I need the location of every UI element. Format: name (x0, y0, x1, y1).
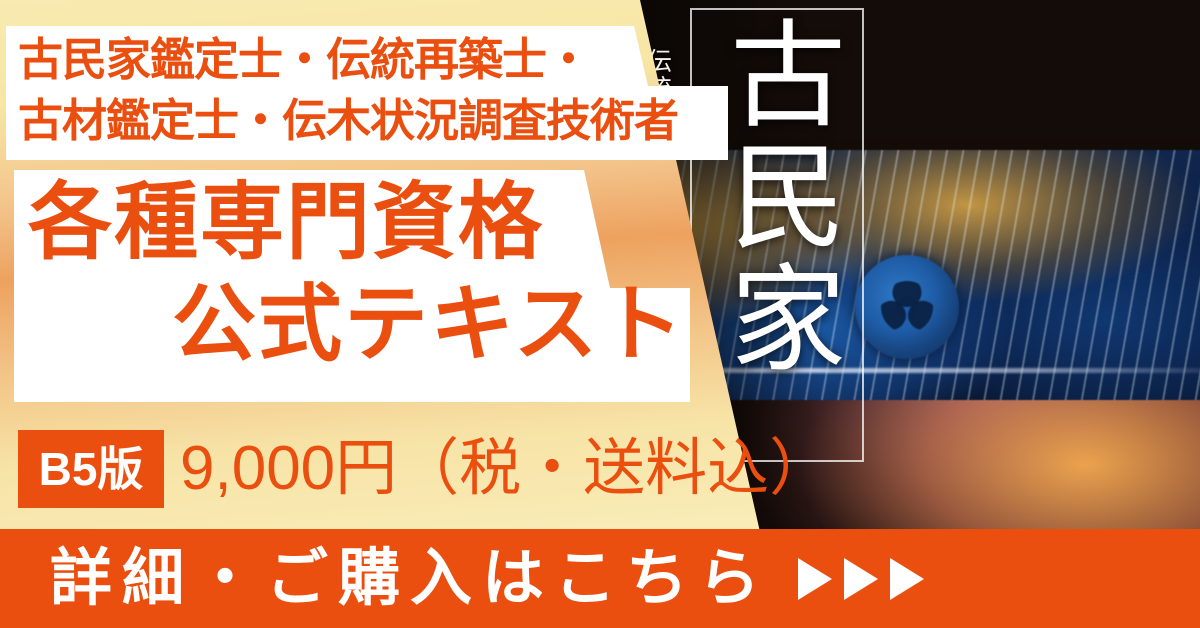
price-text: 9,000円（税・送料込） (180, 433, 831, 505)
main-title-line-2: 公式テキスト (172, 282, 685, 366)
format-badge-label: B5版 (39, 446, 144, 492)
headline-line-2: 古材鑑定士・伝木状況調査技術者 (18, 91, 724, 152)
cta-bar[interactable]: 詳細・ご購入はこちら (0, 529, 1200, 628)
main-title-line-1: 各種専門資格 (28, 180, 544, 264)
arrow-right-icon-3 (890, 558, 924, 600)
arrow-right-icon-2 (844, 558, 878, 600)
cta-arrows (798, 558, 924, 600)
cta-label[interactable]: 詳細・ご購入はこちら (50, 548, 770, 610)
family-crest-icon (855, 255, 959, 359)
format-badge: B5版 (18, 430, 164, 508)
qualification-headline: 古民家鑑定士・伝統再築士・ 古材鑑定士・伝木状況調査技術者 (18, 30, 724, 152)
headline-line-1: 古民家鑑定士・伝統再築士・ (18, 30, 724, 91)
arrow-right-icon-1 (798, 558, 832, 600)
promo-banner[interactable]: 伝統構法、古民家活用のための調査と再生の 古民家 古民家鑑定士・伝統再築士・ 古… (0, 0, 1200, 628)
